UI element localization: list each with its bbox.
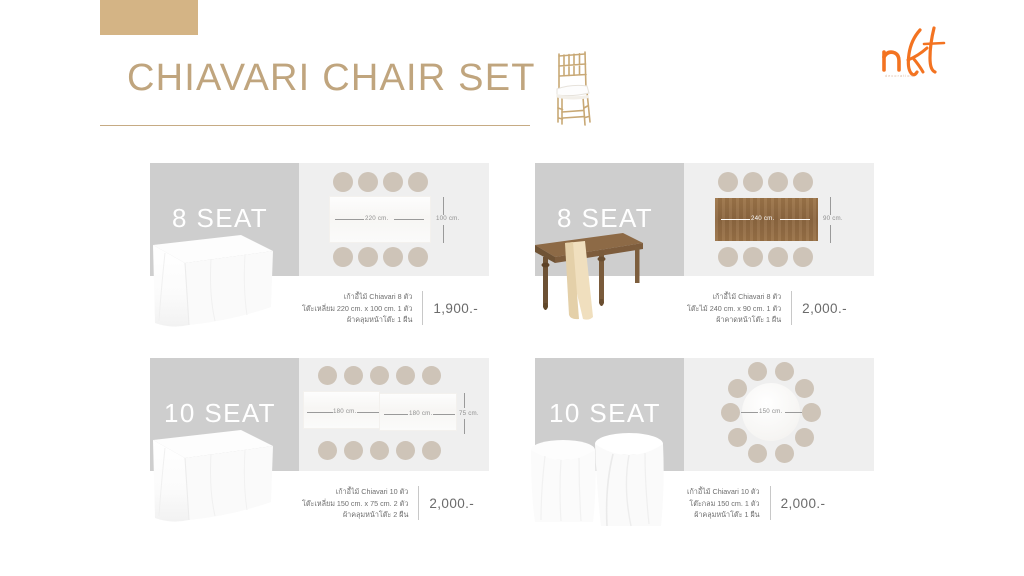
chair-dot bbox=[718, 247, 738, 267]
chair-dot bbox=[344, 441, 363, 460]
chair-dot bbox=[396, 366, 415, 385]
chair-dot bbox=[721, 403, 740, 422]
chair-dot bbox=[768, 172, 788, 192]
card-3-visual: 10 SEAT bbox=[150, 358, 489, 471]
chair-dot bbox=[775, 444, 794, 463]
price-label: 2,000.- bbox=[781, 496, 826, 511]
chair-dot bbox=[408, 172, 428, 192]
chair-dot bbox=[748, 362, 767, 381]
package-card-2[interactable]: 8 SEAT bbox=[535, 163, 874, 276]
dimension-depth: 75 cm. bbox=[459, 410, 479, 417]
card-4-caption: เก้าอี้ไม้ Chiavari 10 ตัว โต๊ะกลม 150 c… bbox=[687, 486, 825, 521]
package-card-1[interactable]: 8 SEAT bbox=[150, 163, 489, 276]
caption-line: โต๊ะไม้ 240 cm. x 90 cm. 1 ตัว bbox=[687, 303, 781, 315]
caption-divider bbox=[791, 291, 792, 325]
chair-dot bbox=[370, 441, 389, 460]
chair-dot bbox=[396, 441, 415, 460]
chair-dot bbox=[333, 247, 353, 267]
card-2-diagram: 240 cm. 90 cm. bbox=[684, 163, 874, 276]
dimension-line bbox=[443, 225, 444, 243]
caption-line: เก้าอี้ไม้ Chiavari 8 ตัว bbox=[687, 291, 781, 303]
card-1-seat-label: 8 SEAT bbox=[172, 203, 268, 234]
card-3-seat-label: 10 SEAT bbox=[164, 398, 276, 429]
caption-line: ผ้าคลุมหน้าโต๊ะ 2 ผืน bbox=[302, 509, 408, 521]
chair-dot bbox=[318, 441, 337, 460]
chair-dot bbox=[383, 172, 403, 192]
caption-divider bbox=[422, 291, 423, 325]
card-3-caption: เก้าอี้ไม้ Chiavari 10 ตัว โต๊ะเหลี่ยม 1… bbox=[302, 486, 474, 521]
chair-dot bbox=[408, 247, 428, 267]
chair-dot bbox=[358, 172, 378, 192]
card-4-diagram: 150 cm. bbox=[684, 358, 874, 471]
caption-line: โต๊ะเหลี่ยม 220 cm. x 100 cm. 1 ตัว bbox=[302, 303, 412, 315]
caption-line: ผ้าคลุมหน้าโต๊ะ 1 ผืน bbox=[302, 314, 412, 326]
chair-dot bbox=[748, 444, 767, 463]
chair-dot bbox=[743, 247, 763, 267]
dimension-line bbox=[721, 219, 750, 220]
card-4-visual: 10 SEAT bbox=[535, 358, 874, 471]
dimension-line bbox=[741, 412, 758, 413]
caption-line: เก้าอี้ไม้ Chiavari 10 ตัว bbox=[302, 486, 408, 498]
dimension-length: 220 cm. bbox=[365, 215, 388, 222]
card-4-seat-label: 10 SEAT bbox=[549, 398, 661, 429]
chair-dot bbox=[318, 366, 337, 385]
chair-dot bbox=[802, 403, 821, 422]
dimension-line bbox=[394, 219, 424, 220]
chair-dot bbox=[718, 172, 738, 192]
brand-logo: decoration bbox=[874, 24, 966, 82]
dimension-depth: 100 cm. bbox=[436, 215, 459, 222]
caption-divider bbox=[418, 486, 419, 520]
caption-line: เก้าอี้ไม้ Chiavari 10 ตัว bbox=[687, 486, 760, 498]
chair-dot bbox=[795, 428, 814, 447]
logo-subtext: decoration bbox=[885, 74, 914, 78]
chair-dot bbox=[775, 362, 794, 381]
chair-dot bbox=[793, 247, 813, 267]
card-1-caption: เก้าอี้ไม้ Chiavari 8 ตัว โต๊ะเหลี่ยม 22… bbox=[302, 291, 478, 326]
dimension-line bbox=[357, 412, 379, 413]
chair-dot bbox=[358, 247, 378, 267]
chair-dot bbox=[422, 441, 441, 460]
chair-dot bbox=[728, 379, 747, 398]
chair-dot bbox=[743, 172, 763, 192]
slide-root: CHIAVARI CHAIR SET bbox=[0, 0, 1024, 576]
card-3-diagram: 180 cm. 180 cm. 75 cm. bbox=[299, 358, 489, 471]
card-2-seat-label: 8 SEAT bbox=[557, 203, 653, 234]
caption-line: เก้าอี้ไม้ Chiavari 8 ตัว bbox=[302, 291, 412, 303]
title-divider bbox=[100, 125, 530, 126]
accent-bar bbox=[100, 0, 198, 35]
dimension-line bbox=[443, 197, 444, 215]
chair-dot bbox=[344, 366, 363, 385]
dimension-line bbox=[335, 219, 364, 220]
page-title: CHIAVARI CHAIR SET bbox=[127, 57, 536, 100]
dimension-line bbox=[307, 412, 333, 413]
dimension-depth: 90 cm. bbox=[823, 215, 843, 222]
caption-line: ผ้าคลุมหน้าโต๊ะ 1 ผืน bbox=[687, 509, 760, 521]
chair-dot bbox=[422, 366, 441, 385]
caption-divider bbox=[770, 486, 771, 520]
chair-dot bbox=[793, 172, 813, 192]
price-label: 2,000.- bbox=[429, 496, 474, 511]
chiavari-chair-icon bbox=[541, 42, 603, 128]
dimension-line bbox=[830, 225, 831, 243]
dimension-line bbox=[384, 414, 408, 415]
card-1-visual: 8 SEAT bbox=[150, 163, 489, 276]
chair-dot bbox=[768, 247, 788, 267]
caption-line: โต๊ะกลม 150 cm. 1 ตัว bbox=[687, 498, 760, 510]
dimension-line bbox=[433, 414, 455, 415]
dimension-line bbox=[464, 393, 465, 408]
dimension-length-2: 180 cm. bbox=[409, 410, 432, 417]
dimension-length: 180 cm. bbox=[333, 408, 356, 415]
dimension-line bbox=[780, 219, 810, 220]
dimension-line bbox=[785, 412, 802, 413]
dimension-line bbox=[464, 419, 465, 434]
dimension-diameter: 150 cm. bbox=[759, 408, 782, 415]
card-2-caption: เก้าอี้ไม้ Chiavari 8 ตัว โต๊ะไม้ 240 cm… bbox=[687, 291, 847, 326]
chair-dot bbox=[728, 428, 747, 447]
chair-dot bbox=[333, 172, 353, 192]
dimension-line bbox=[830, 197, 831, 215]
caption-line: โต๊ะเหลี่ยม 150 cm. x 75 cm. 2 ตัว bbox=[302, 498, 408, 510]
chair-dot bbox=[370, 366, 389, 385]
caption-line: ผ้าคาดหน้าโต๊ะ 1 ผืน bbox=[687, 314, 781, 326]
price-label: 1,900.- bbox=[433, 301, 478, 316]
chair-dot bbox=[795, 379, 814, 398]
package-card-3[interactable]: 10 SEAT bbox=[150, 358, 489, 471]
chair-dot bbox=[383, 247, 403, 267]
card-1-diagram: 220 cm. 100 cm. bbox=[299, 163, 489, 276]
package-card-4[interactable]: 10 SEAT bbox=[535, 358, 874, 471]
dimension-length: 240 cm. bbox=[751, 215, 774, 222]
card-2-visual: 8 SEAT bbox=[535, 163, 874, 276]
price-label: 2,000.- bbox=[802, 301, 847, 316]
